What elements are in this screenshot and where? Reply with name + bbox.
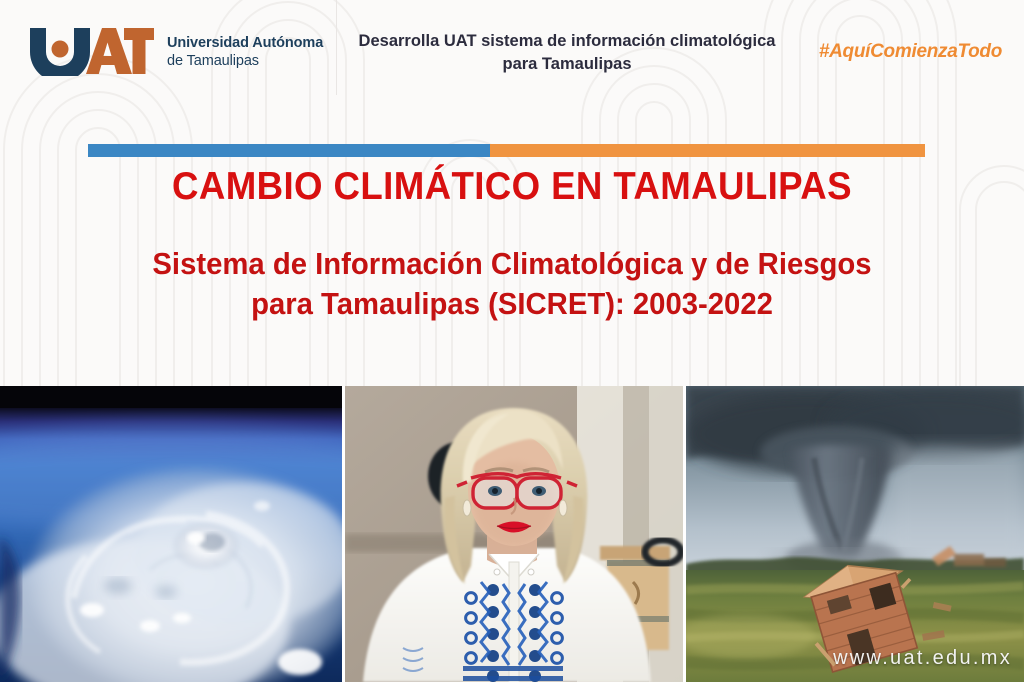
headline-text: Desarrolla UAT sistema de información cl… xyxy=(352,30,782,77)
speaker-video-photo xyxy=(345,386,683,682)
header-divider xyxy=(336,0,337,95)
logo-line-1: Universidad Autónoma xyxy=(167,35,323,52)
slide-subtitle-line-1: Sistema de Información Climatológica y d… xyxy=(20,244,1003,284)
uat-logo-wordmark: Universidad Autónoma de Tamaulipas xyxy=(167,35,323,71)
slide-root: Universidad Autónoma de Tamaulipas Desar… xyxy=(0,0,1024,682)
photo-strip: www.uat.edu.mx xyxy=(0,386,1024,682)
slide-subtitle-line-2: para Tamaulipas (SICRET): 2003-2022 xyxy=(20,284,1003,324)
website-url: www.uat.edu.mx xyxy=(833,647,1012,670)
campaign-hashtag: #AquíComienzaTodo xyxy=(819,41,1002,63)
uat-logo-block: Universidad Autónoma de Tamaulipas xyxy=(28,26,323,81)
title-rule-blue xyxy=(88,144,490,157)
header-bar: Universidad Autónoma de Tamaulipas Desar… xyxy=(0,0,1024,95)
tornado-photo: www.uat.edu.mx xyxy=(686,386,1024,682)
title-rule-orange xyxy=(490,144,925,157)
logo-line-2: de Tamaulipas xyxy=(167,53,323,70)
title-rule xyxy=(88,144,925,157)
uat-logo-icon xyxy=(28,26,156,81)
slide-subtitle: Sistema de Información Climatológica y d… xyxy=(20,244,1003,325)
hurricane-satellite-photo xyxy=(0,386,342,682)
slide-title: CAMBIO CLIMÁTICO EN TAMAULIPAS xyxy=(31,165,994,209)
